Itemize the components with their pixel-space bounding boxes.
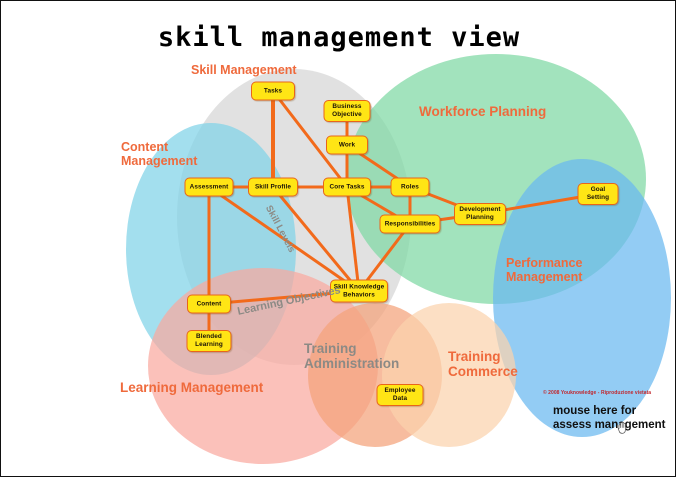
node-core-tasks[interactable]: Core Tasks (323, 178, 371, 197)
node-assessment[interactable]: Assessment (185, 178, 234, 197)
node-development-planning[interactable]: Development Planning (454, 203, 506, 225)
node-responsibilities[interactable]: Responsibilities (380, 215, 441, 234)
page-title: skill management view (1, 22, 676, 53)
node-business-objective[interactable]: Business Objective (324, 100, 371, 122)
diagram-frame: skill management view Skill ManagementWo… (0, 0, 676, 477)
region-training-commerce (382, 303, 516, 447)
node-blended-learning[interactable]: Blended Learning (187, 330, 232, 352)
node-tasks[interactable]: Tasks (251, 82, 295, 101)
hand-cursor-icon (615, 420, 631, 436)
node-skill-knowledge[interactable]: Skill Knowledge Behaviors (330, 280, 388, 303)
copyright-notice: © 2008 Youknowledge - Riproduzione vieta… (543, 390, 651, 396)
node-skill-profile[interactable]: Skill Profile (248, 178, 298, 197)
node-content[interactable]: Content (187, 295, 231, 314)
mouse-hint-text: mouse here for assess management (553, 404, 671, 433)
node-roles[interactable]: Roles (391, 178, 430, 197)
node-work[interactable]: Work (326, 136, 368, 155)
node-goal-setting[interactable]: Goal Setting (578, 183, 619, 205)
node-employee-data[interactable]: Employee Data (377, 384, 424, 406)
